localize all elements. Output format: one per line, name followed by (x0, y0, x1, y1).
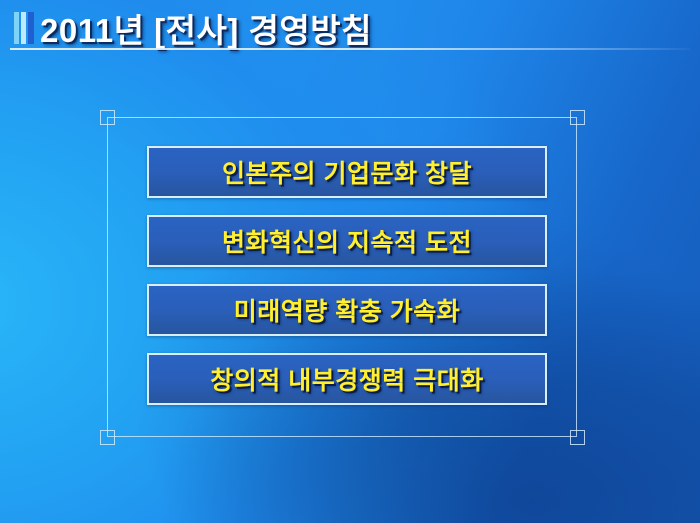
title-accent-bars-icon (14, 12, 34, 44)
statement-label-1: 인본주의 기업문화 창달 (222, 154, 472, 190)
frame-handle-bottom-left (100, 430, 115, 445)
accent-bar-1 (14, 12, 19, 44)
statement-label-4: 창의적 내부경쟁력 극대화 (210, 361, 483, 397)
statement-box-4[interactable]: 창의적 내부경쟁력 극대화 (147, 353, 547, 405)
presentation-slide: 2011년 [전사] 경영방침 인본주의 기업문화 창달 변화혁신의 지속적 도… (0, 0, 700, 523)
slide-title-bar: 2011년 [전사] 경영방침 (0, 0, 700, 50)
title-divider (10, 48, 690, 50)
statement-label-2: 변화혁신의 지속적 도전 (222, 223, 472, 259)
statement-label-3: 미래역량 확충 가속화 (234, 292, 460, 328)
statement-box-3[interactable]: 미래역량 확충 가속화 (147, 284, 547, 336)
statement-box-2[interactable]: 변화혁신의 지속적 도전 (147, 215, 547, 267)
slide-title: 2011년 [전사] 경영방침 (40, 4, 372, 52)
frame-handle-top-left (100, 110, 115, 125)
accent-bar-3 (28, 12, 34, 44)
statement-box-1[interactable]: 인본주의 기업문화 창달 (147, 146, 547, 198)
statement-box-list: 인본주의 기업문화 창달 변화혁신의 지속적 도전 미래역량 확충 가속화 창의… (147, 146, 547, 405)
frame-handle-top-right (570, 110, 585, 125)
accent-bar-2 (21, 12, 26, 44)
frame-handle-bottom-right (570, 430, 585, 445)
